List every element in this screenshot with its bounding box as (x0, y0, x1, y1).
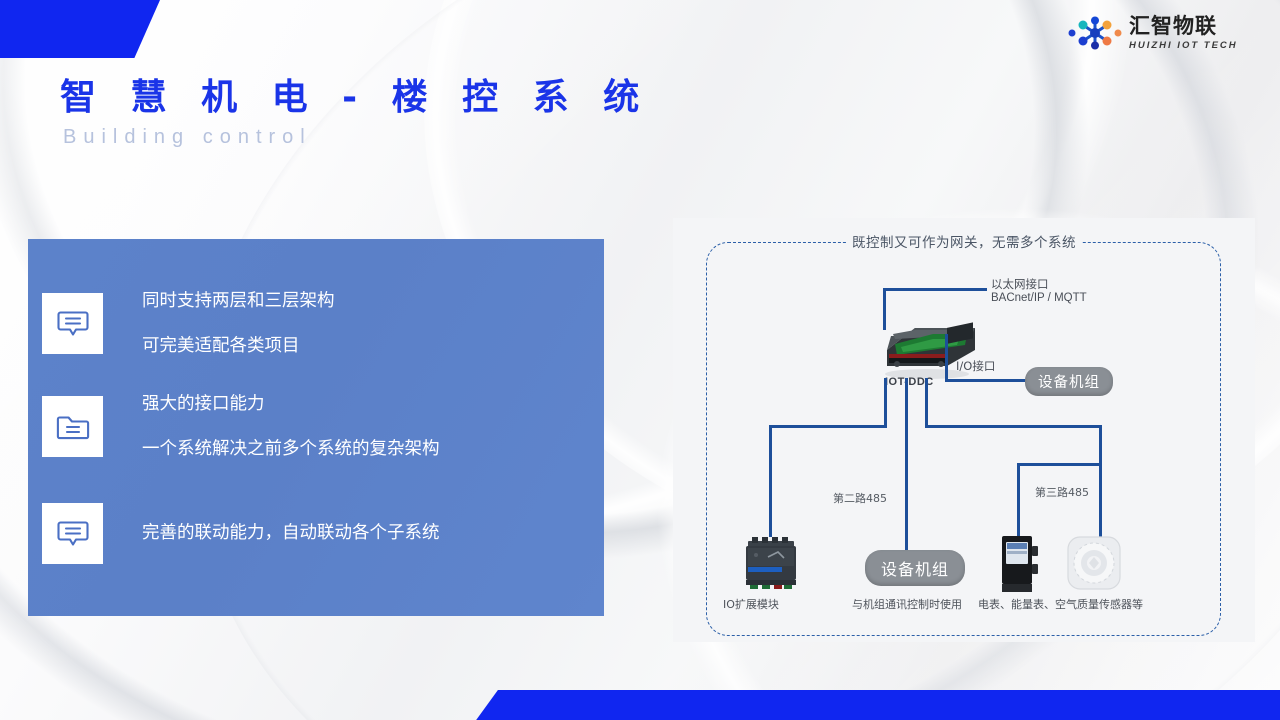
top-left-blue-accent (0, 0, 160, 58)
feature-item-1-texts: 同时支持两层和三层架构 可完美适配各类项目 (142, 293, 335, 355)
brand-logo: 汇智物联 HUIZHI IOT TECH (1068, 14, 1238, 52)
pill-device-group-2: 设备机组 (865, 550, 965, 586)
label-bus-2: 第二路485 (833, 490, 887, 506)
wire-bus3-vertical (925, 378, 928, 428)
brand-name-cn: 汇智物联 (1129, 16, 1238, 37)
feature-item-3: 完善的联动能力，自动联动各个子系统 (42, 503, 440, 564)
wire-bus1-vertical (884, 378, 887, 428)
molecule-network-icon (1068, 14, 1122, 52)
page-subtitle: Building control (63, 126, 312, 149)
wire-left-branch-vertical (769, 425, 772, 537)
feature-line: 强大的接口能力 (142, 396, 440, 414)
feature-item-1: 同时支持两层和三层架构 可完美适配各类项目 (42, 293, 335, 355)
wire-bus2-vertical (905, 378, 908, 556)
label-ethernet-protocols: BACnet/IP / MQTT (991, 292, 1087, 304)
wire-ethernet-horizontal (883, 288, 987, 291)
wire-left-branch-horizontal (769, 425, 887, 428)
label-ethernet-port: 以太网接口 (991, 276, 1049, 292)
comment-lines-icon (42, 293, 103, 354)
features-card: 同时支持两层和三层架构 可完美适配各类项目 强大的接口能力 一个系统解决之前多个… (28, 239, 604, 616)
folder-lines-icon (42, 396, 103, 457)
label-device-comm-usage: 与机组通讯控制时使用 (852, 596, 962, 612)
wire-io-vertical (945, 334, 948, 382)
brand-wordmark: 汇智物联 HUIZHI IOT TECH (1129, 16, 1238, 51)
wire-right-branch-vertical (1099, 425, 1102, 466)
feature-line: 一个系统解决之前多个系统的复杂架构 (142, 441, 440, 459)
brand-name-en: HUIZHI IOT TECH (1129, 41, 1238, 51)
comment-lines-icon (42, 503, 103, 564)
wire-io-horizontal (945, 379, 1027, 382)
wire-right-split-horizontal (1017, 463, 1102, 466)
meter-icon (993, 534, 1045, 594)
feature-line: 完善的联动能力，自动联动各个子系统 (142, 525, 440, 543)
wire-right-branch-horizontal (925, 425, 1102, 428)
label-bus-3: 第三路485 (1035, 484, 1089, 500)
label-io-port: I/O接口 (956, 358, 995, 374)
diagram-caption: 既控制又可作为网关，无需多个系统 (846, 231, 1082, 251)
label-io-expansion-module: IO扩展模块 (723, 596, 779, 612)
air-quality-sensor-icon (1063, 534, 1125, 594)
label-meters-and-sensors: 电表、能量表、空气质量传感器等 (978, 596, 1143, 612)
slide-canvas: 汇智物联 HUIZHI IOT TECH 智 慧 机 电 - 楼 控 系 统 B… (0, 0, 1280, 720)
io-expansion-module-icon (740, 535, 802, 593)
architecture-diagram: 既控制又可作为网关，无需多个系统 以太网接口 BACnet/IP / MQTT (673, 218, 1255, 642)
feature-line: 同时支持两层和三层架构 (142, 293, 335, 311)
page-title: 智 慧 机 电 - 楼 控 系 统 (60, 68, 650, 120)
pill-device-group-1: 设备机组 (1025, 367, 1113, 396)
wire-right-meter-vertical (1017, 463, 1020, 537)
feature-item-2-texts: 强大的接口能力 一个系统解决之前多个系统的复杂架构 (142, 396, 440, 458)
feature-item-2: 强大的接口能力 一个系统解决之前多个系统的复杂架构 (42, 396, 440, 458)
feature-line: 可完美适配各类项目 (142, 338, 335, 356)
feature-item-3-texts: 完善的联动能力，自动联动各个子系统 (142, 503, 440, 564)
wire-right-sensor-vertical (1099, 463, 1102, 537)
